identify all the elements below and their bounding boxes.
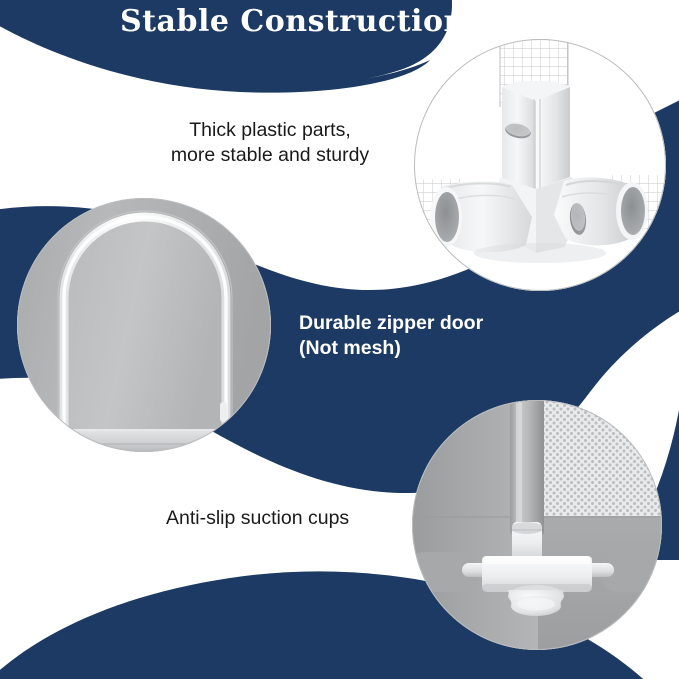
callout-thick-plastic-line1: Thick plastic parts,	[148, 118, 392, 143]
callout-zipper-door-line1: Durable zipper door	[299, 311, 549, 336]
tube-bore-left	[435, 192, 459, 242]
corner-post	[510, 400, 544, 536]
page-title: Stable Construction	[120, 2, 440, 42]
connector-vertical-arm	[502, 81, 570, 189]
connector-right-arm	[554, 178, 648, 246]
tube-bore-right	[621, 187, 645, 235]
callout-zipper-door: Durable zipper door (Not mesh)	[299, 311, 549, 361]
callout-thick-plastic: Thick plastic parts, more stable and stu…	[148, 118, 392, 168]
callout-suction-cups-line1: Anti-slip suction cups	[166, 506, 446, 531]
callout-thick-plastic-line2: more stable and sturdy	[148, 143, 392, 168]
door-panel	[65, 218, 225, 436]
photo-corner-connector	[414, 39, 666, 291]
photo-suction-cup	[412, 400, 662, 650]
infographic-canvas: Stable Construction Thick plastic parts,…	[0, 0, 679, 679]
callout-suction-cups: Anti-slip suction cups	[166, 506, 446, 531]
suction-cup	[508, 585, 564, 616]
photo-zipper-door	[17, 198, 271, 452]
zipper-pull	[220, 402, 227, 422]
callout-zipper-door-line2: (Not mesh)	[299, 336, 549, 361]
